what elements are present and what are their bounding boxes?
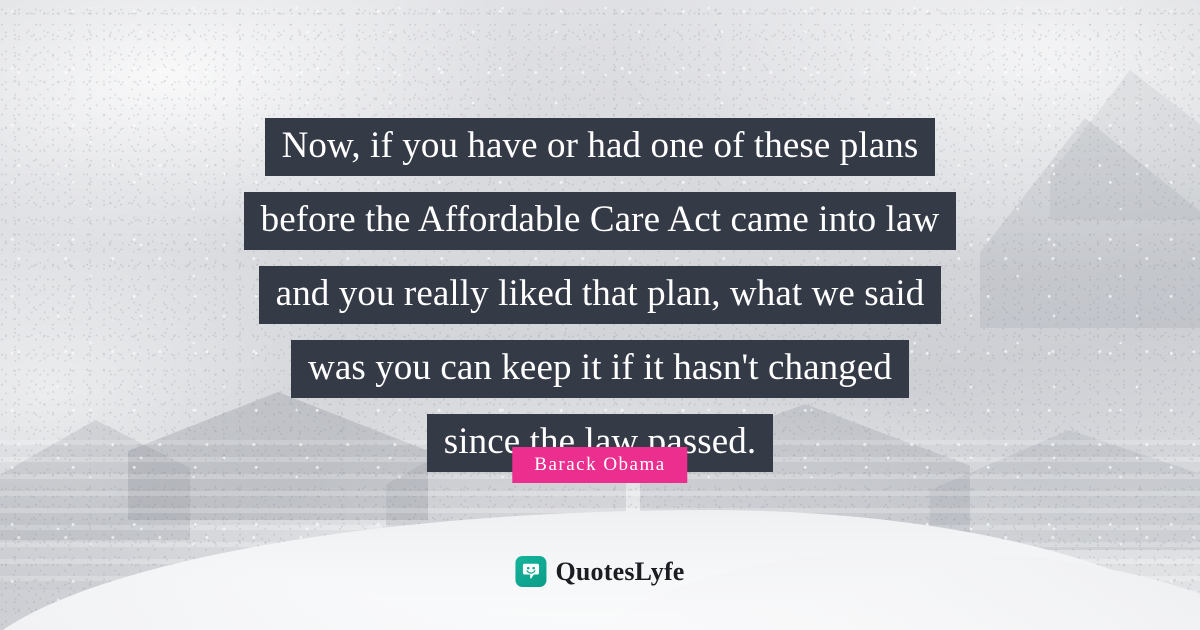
quote-card: Now, if you have or had one of these pla… bbox=[0, 0, 1200, 630]
quote-line: was you can keep it if it hasn't changed bbox=[291, 340, 909, 398]
quote-line: Now, if you have or had one of these pla… bbox=[265, 118, 936, 176]
quote-text-block: Now, if you have or had one of these pla… bbox=[0, 118, 1200, 472]
card-content: Now, if you have or had one of these pla… bbox=[0, 0, 1200, 630]
quote-bubble-icon bbox=[515, 556, 546, 587]
author-badge[interactable]: Barack Obama bbox=[512, 447, 687, 483]
brand-logo[interactable]: QuotesLyfe bbox=[515, 556, 684, 587]
brand-name: QuotesLyfe bbox=[555, 559, 684, 585]
quote-line: and you really liked that plan, what we … bbox=[259, 266, 942, 324]
quote-line: before the Affordable Care Act came into… bbox=[244, 192, 957, 250]
